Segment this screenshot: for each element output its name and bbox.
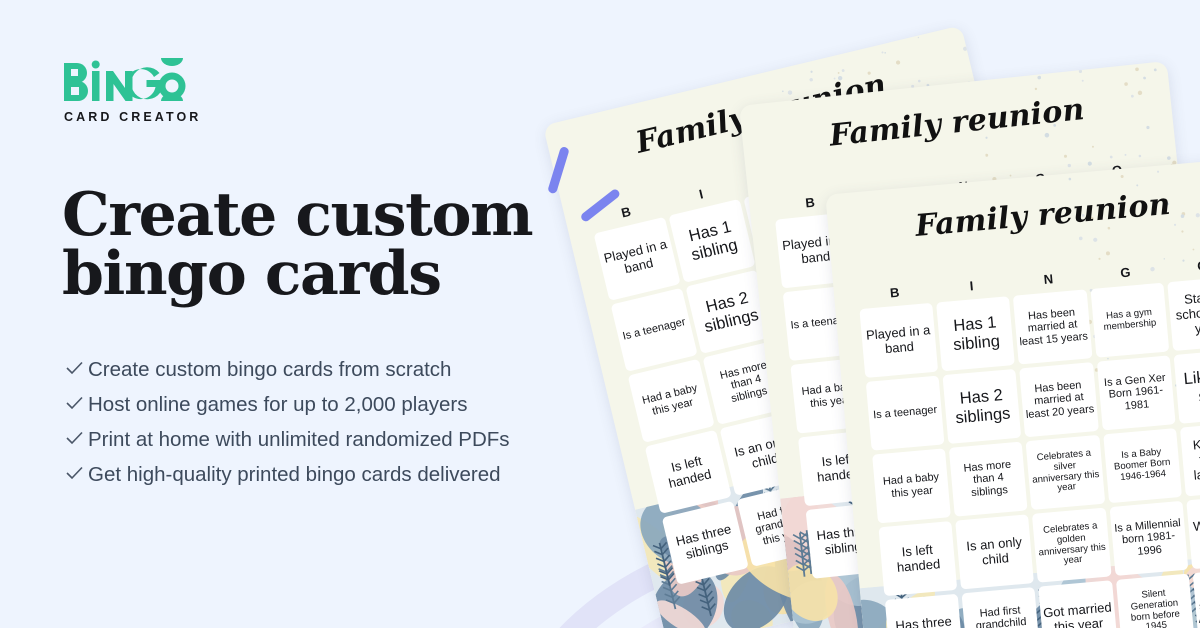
- bingo-cell[interactable]: Has 2 siblings: [940, 367, 1023, 446]
- bingo-cell-label: Has been married at least 20 years: [1020, 362, 1099, 437]
- feature-list: Create custom bingo cards from scratch H…: [66, 358, 510, 498]
- bingo-cell-label: Celebrates a silver anniversary this yea…: [1026, 435, 1105, 510]
- check-icon: [66, 361, 88, 375]
- bingo-cell[interactable]: Had first grandchild this year: [960, 585, 1043, 628]
- bingo-cell[interactable]: Is left handed: [876, 519, 959, 598]
- bingo-cell-label: Has been married at least 15 years: [1013, 289, 1092, 364]
- bingo-cell-label: Has more than 4 siblings: [949, 442, 1028, 517]
- bingo-cell[interactable]: Celebrates a golden anniversary this yea…: [1030, 505, 1113, 584]
- bingo-card-inner: Family reunionBINGOPlayed in a bandHas 1…: [825, 157, 1200, 628]
- bingo-cell[interactable]: Played in a band: [857, 301, 940, 380]
- bingo-cell[interactable]: Has a gym membership: [1088, 281, 1171, 360]
- list-item: Get high-quality printed bingo cards del…: [66, 463, 510, 488]
- list-item-label: Print at home with unlimited randomized …: [88, 428, 510, 453]
- bingo-cell[interactable]: Started school this year: [1165, 274, 1200, 353]
- bingo-cell-label: Celebrates a golden anniversary this yea…: [1032, 508, 1111, 583]
- sparkle-strokes-icon: [548, 140, 653, 240]
- bingo-cell[interactable]: Is a Millennial born 1981-1996: [1107, 499, 1190, 578]
- bingo-cell[interactable]: Likes to sing: [1171, 346, 1200, 425]
- bingo-cell-label: Started school this year: [1167, 276, 1200, 351]
- bingo-cell[interactable]: Is a teenager: [864, 373, 947, 452]
- page-title: Create custom bingo cards: [62, 186, 582, 305]
- bingo-cell-label: Is left handed: [878, 521, 957, 596]
- bingo-grid: BINGOPlayed in a bandHas 1 siblingHas be…: [856, 255, 1200, 628]
- bingo-cell-label: Has three siblings: [885, 594, 964, 628]
- logo-tagline: CARD CREATOR: [64, 110, 201, 124]
- bingo-cell[interactable]: Is an only child: [953, 512, 1036, 591]
- bingo-cell[interactable]: Celebrates a silver anniversary this yea…: [1024, 433, 1107, 512]
- bingo-cell-label: Has a gym membership: [1090, 283, 1169, 358]
- bingo-cell[interactable]: Has been married at least 20 years: [1017, 360, 1100, 439]
- list-item: Create custom bingo cards from scratch: [66, 358, 510, 383]
- bingo-cell[interactable]: Has three siblings: [883, 592, 966, 628]
- bingo-cell-label: Is an only child: [955, 514, 1034, 589]
- headline-line-2: bingo cards: [62, 245, 582, 304]
- bingo-cell-label: Is a Baby Boomer Born 1946-1964: [1103, 428, 1182, 503]
- bingo-cell-label: Played in a band: [859, 303, 938, 378]
- check-icon: [66, 431, 88, 445]
- bingo-cell[interactable]: Has been married at least 15 years: [1011, 287, 1094, 366]
- hero-left-column: CARD CREATOR Create custom bingo cards C…: [62, 0, 682, 628]
- list-item-label: Get high-quality printed bingo cards del…: [88, 463, 501, 488]
- bingo-cell[interactable]: Is a Baby Boomer Born 1946-1964: [1101, 426, 1184, 505]
- bingo-logo-icon: [62, 53, 186, 103]
- bingo-cell[interactable]: Silent Generation born before 1945: [1113, 571, 1196, 628]
- bingo-cell-label: Likes to sing: [1173, 349, 1200, 424]
- bingo-header-o: O: [1163, 255, 1200, 281]
- bingo-cell-label: Had first grandchild this year: [962, 587, 1041, 628]
- bingo-cell-label: Is a Millennial born 1981-1996: [1109, 501, 1188, 576]
- check-icon: [66, 396, 88, 410]
- bingo-cell-label: Was on TV this year: [1186, 494, 1200, 569]
- list-item: Host online games for up to 2,000 player…: [66, 393, 510, 418]
- bingo-cell[interactable]: Is a Gen Xer Born 1961-1981: [1094, 353, 1177, 432]
- card-title: Family reunion: [827, 179, 1200, 251]
- list-item: Print at home with unlimited randomized …: [66, 428, 510, 453]
- bingo-cell-label: Has 2 siblings: [943, 369, 1022, 444]
- list-item-label: Create custom bingo cards from scratch: [88, 358, 451, 383]
- check-icon: [66, 466, 88, 480]
- bingo-cell-label: Had a baby this year: [872, 448, 951, 523]
- headline-line-1: Create custom: [62, 186, 582, 245]
- bingo-cell[interactable]: Has 1 sibling: [934, 294, 1017, 373]
- bingo-cell-label: Has 1 sibling: [936, 296, 1015, 371]
- logo-wordmark: [62, 55, 201, 103]
- bingo-cell[interactable]: Got married this year: [1036, 578, 1119, 628]
- bingo-cell-label: Got married this year: [1039, 580, 1118, 628]
- brand-logo[interactable]: CARD CREATOR: [62, 55, 201, 124]
- bingo-cell-label: Is a teenager: [866, 376, 945, 451]
- bingo-cell-label: Knows a foreign language: [1180, 421, 1200, 496]
- bingo-cell[interactable]: Had a baby this year: [870, 446, 953, 525]
- list-item-label: Host online games for up to 2,000 player…: [88, 393, 467, 418]
- bingo-cell-label: Currently serving in the Armed Forces: [1192, 567, 1200, 628]
- bingo-cell-label: Is a Gen Xer Born 1961-1981: [1096, 355, 1175, 430]
- bingo-cell-label: Silent Generation born before 1945: [1116, 574, 1195, 628]
- bingo-card-front[interactable]: Family reunionBINGOPlayed in a bandHas 1…: [825, 157, 1200, 628]
- bingo-cell[interactable]: Has more than 4 siblings: [947, 439, 1030, 518]
